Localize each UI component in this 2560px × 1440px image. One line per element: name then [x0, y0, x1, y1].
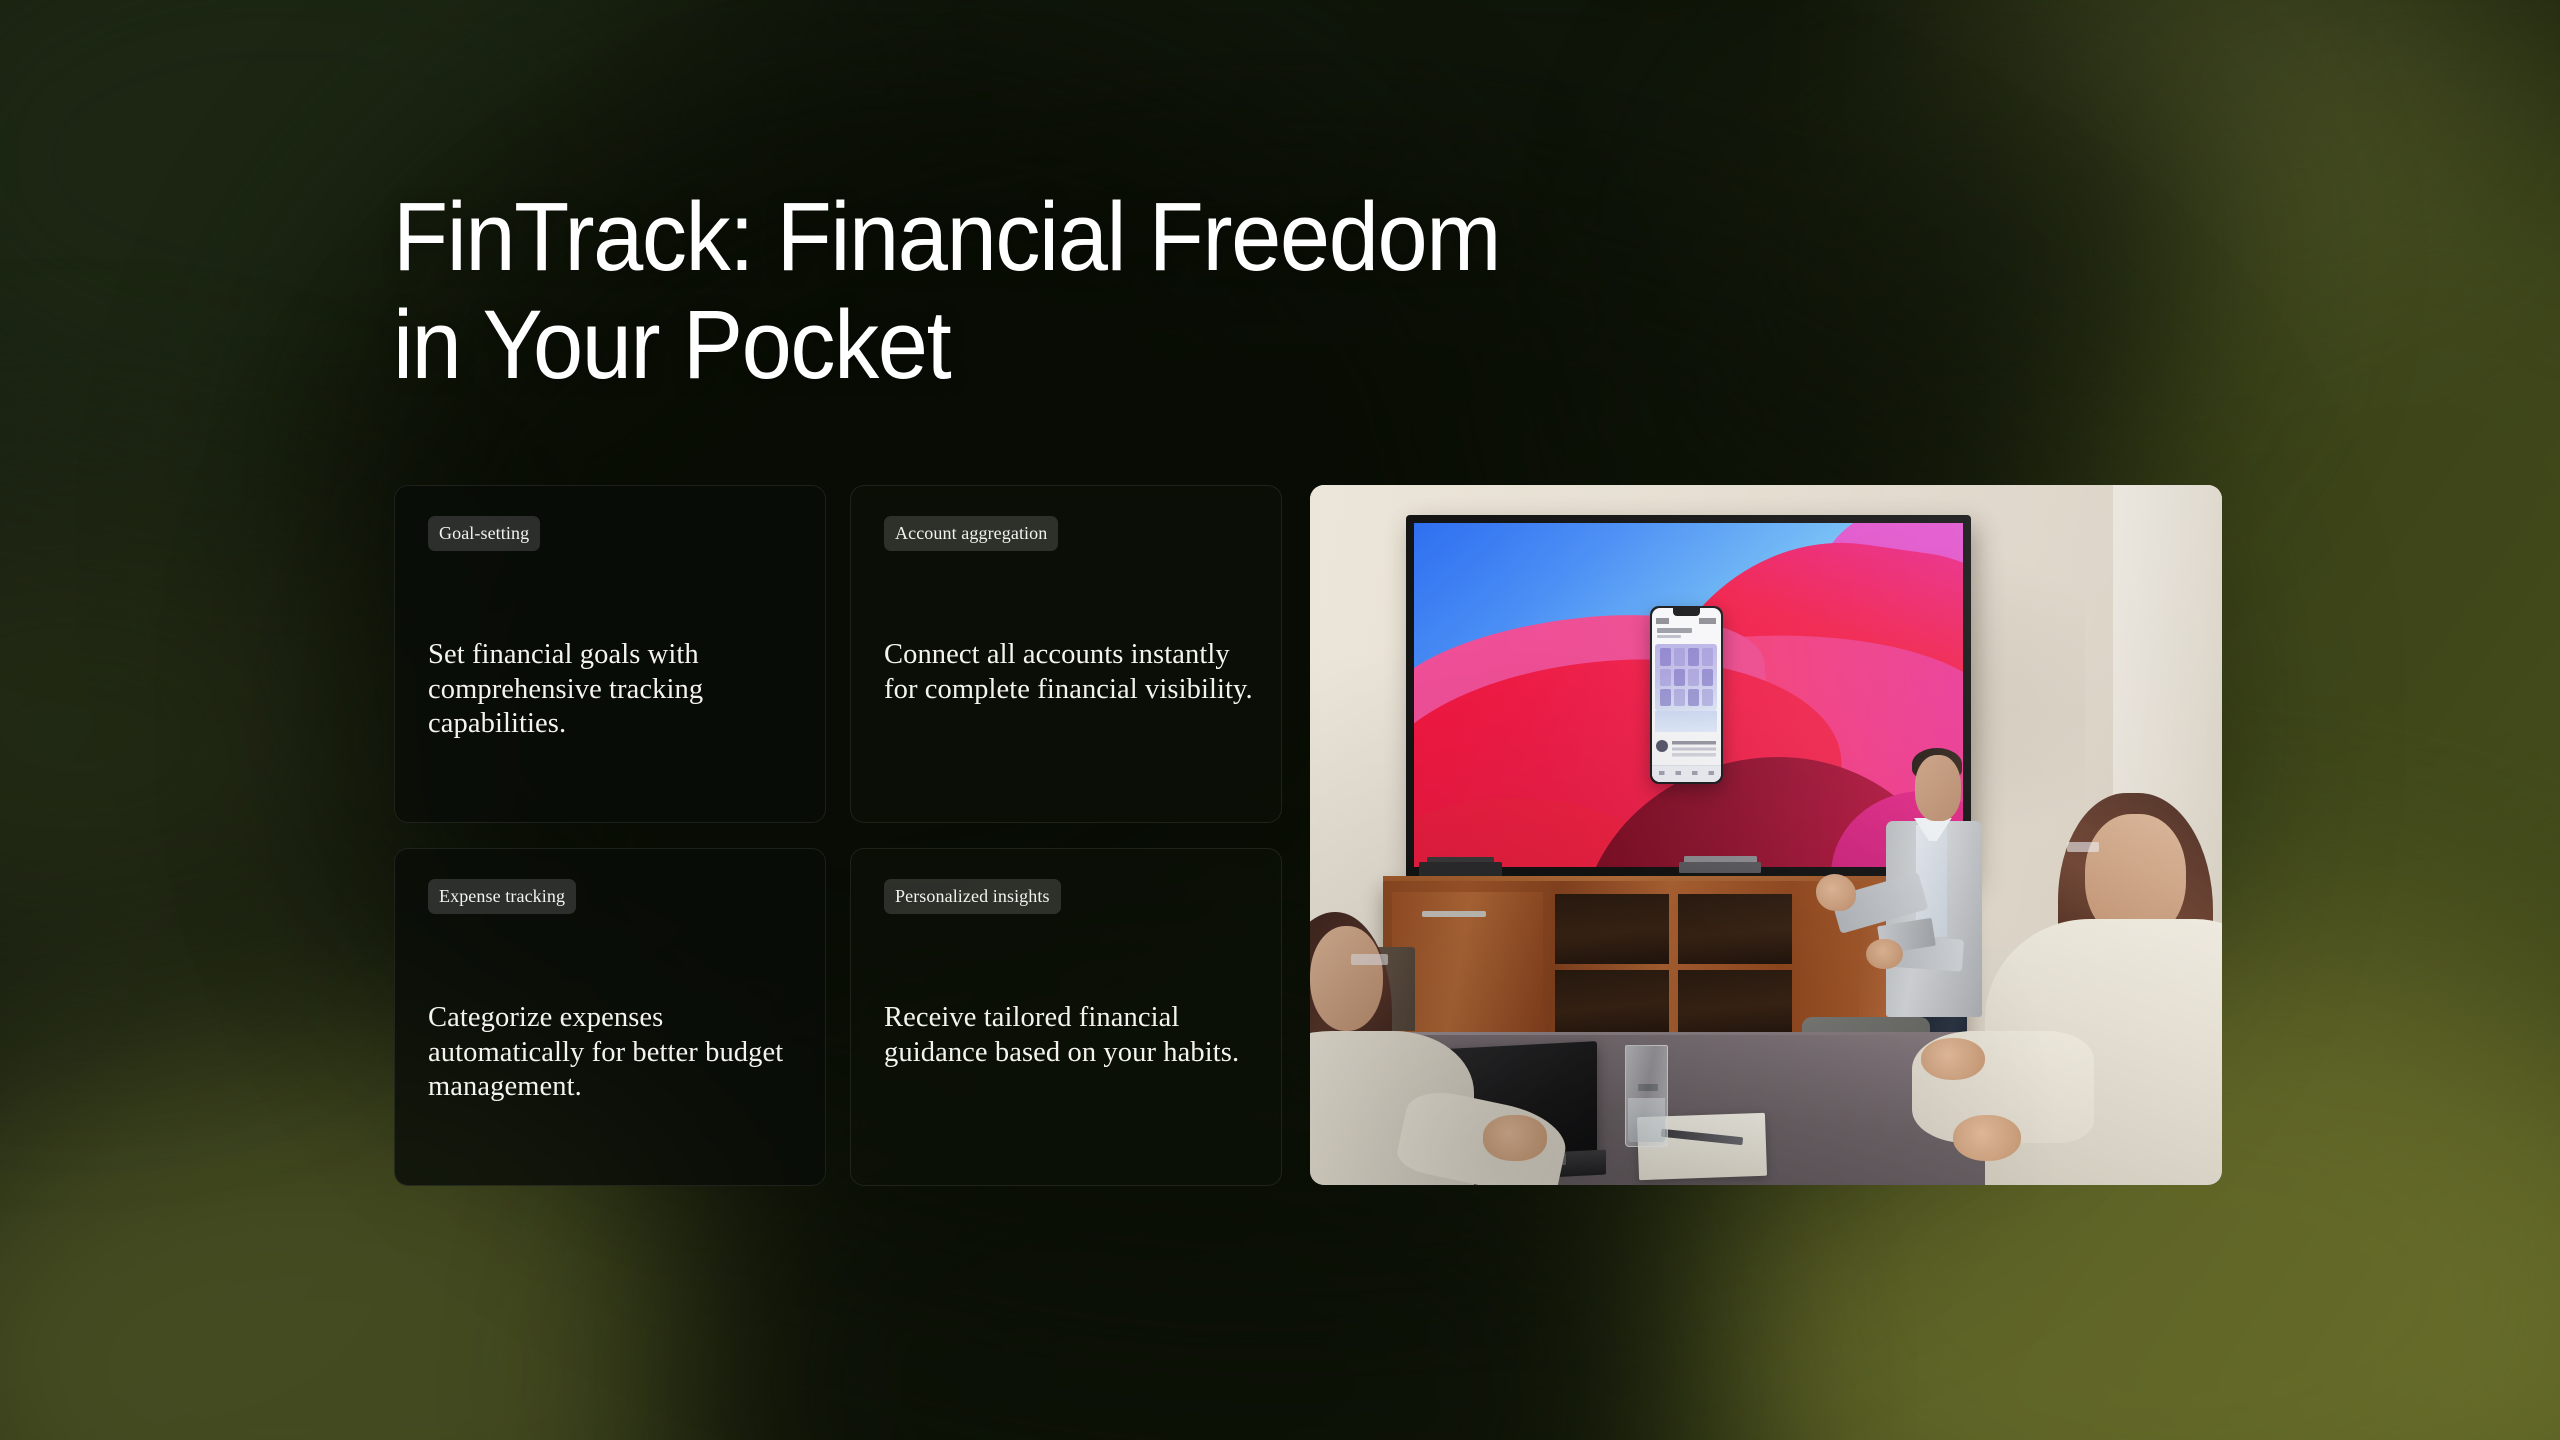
photo-credenza-handle — [1422, 911, 1486, 917]
feature-body-goal-setting: Set financial goals with comprehensive t… — [428, 638, 799, 742]
photo-phone-chart-area — [1655, 711, 1717, 732]
photo-phone-tile — [1660, 669, 1671, 686]
photo-attendee-left-head — [1310, 926, 1383, 1031]
photo-phone-tile — [1674, 689, 1685, 706]
photo-phone-tabbar — [1652, 765, 1721, 782]
feature-body-expense-tracking: Categorize expenses automatically for be… — [428, 1001, 799, 1105]
photo-attendee-right-glasses — [2067, 842, 2099, 852]
photo-phone-tile — [1702, 689, 1713, 706]
feature-badge-personalized-insights: Personalized insights — [884, 879, 1061, 914]
feature-card-expense-tracking[interactable]: Expense tracking Categorize expenses aut… — [394, 848, 826, 1186]
photo-phone-subheading — [1657, 635, 1682, 639]
feature-card-grid: Goal-setting Set financial goals with co… — [394, 485, 1282, 1185]
feature-card-account-aggregation[interactable]: Account aggregation Connect all accounts… — [850, 485, 1282, 823]
photo-phone-tile — [1660, 689, 1671, 706]
photo-attendee-left-hand — [1483, 1115, 1547, 1161]
photo-device-right — [1679, 862, 1761, 874]
photo-phone-tile — [1674, 669, 1685, 686]
feature-card-personalized-insights[interactable]: Personalized insights Receive tailored f… — [850, 848, 1282, 1186]
feature-badge-goal-setting: Goal-setting — [428, 516, 540, 551]
feature-card-goal-setting[interactable]: Goal-setting Set financial goals with co… — [394, 485, 826, 823]
photo-phone-text-lines — [1672, 741, 1717, 758]
photo-attendee-left-glasses — [1351, 954, 1387, 965]
feature-badge-account-aggregation: Account aggregation — [884, 516, 1058, 551]
hero-photo-conference-room — [1310, 485, 2222, 1185]
photo-phone-tile — [1702, 669, 1713, 686]
feature-body-personalized-insights: Receive tailored financial guidance base… — [884, 1001, 1255, 1070]
photo-phone-avatar — [1656, 740, 1668, 752]
photo-phone-statusbar — [1656, 618, 1716, 624]
photo-phone-mockup — [1650, 606, 1723, 785]
photo-attendee-right-hand-upper — [1921, 1038, 1985, 1080]
photo-phone-tile — [1688, 648, 1699, 665]
photo-phone-tile — [1660, 648, 1671, 665]
photo-phone-notch — [1673, 608, 1700, 617]
photo-phone-heading — [1657, 628, 1693, 633]
photo-phone-list-row — [1656, 737, 1716, 761]
photo-credenza-cubby — [1678, 894, 1792, 965]
photo-phone-tile — [1688, 689, 1699, 706]
photo-phone-tile-grid — [1655, 644, 1717, 710]
photo-presenter-holding-hand — [1866, 939, 1902, 970]
page-title: FinTrack: Financial Freedom in Your Pock… — [393, 183, 1695, 399]
feature-badge-expense-tracking: Expense tracking — [428, 879, 576, 914]
photo-attendee-right-hand-lower — [1953, 1115, 2021, 1161]
photo-phone-tile — [1674, 648, 1685, 665]
photo-phone-tile — [1688, 669, 1699, 686]
photo-tv-screen — [1414, 523, 1964, 867]
photo-water — [1628, 1098, 1665, 1142]
photo-phone-tab-icons — [1659, 771, 1714, 775]
feature-body-account-aggregation: Connect all accounts instantly for compl… — [884, 638, 1255, 707]
photo-presenter-head — [1915, 755, 1962, 821]
photo-phone-tile — [1702, 648, 1713, 665]
photo-credenza-cubby — [1555, 970, 1669, 1037]
photo-credenza-cubby — [1555, 894, 1669, 965]
photo-phone-screen — [1652, 608, 1721, 783]
photo-credenza-cubby — [1678, 970, 1792, 1037]
photo-water-glass — [1625, 1045, 1669, 1147]
